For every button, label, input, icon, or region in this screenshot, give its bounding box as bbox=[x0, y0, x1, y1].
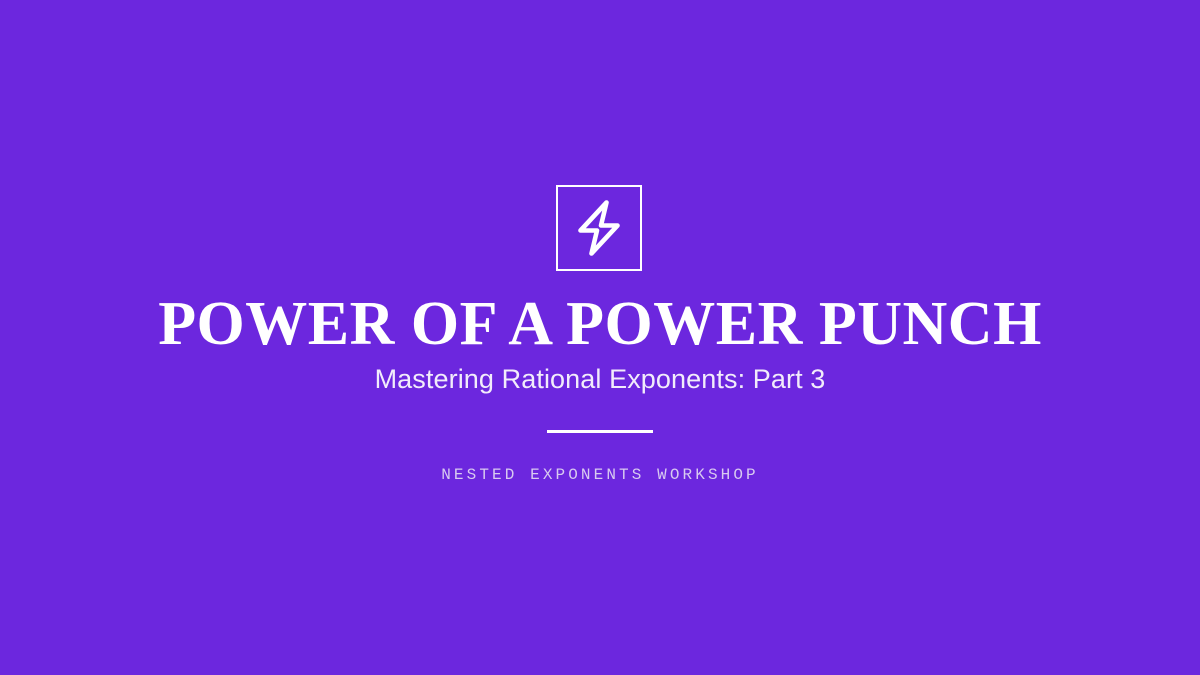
title-slide: POWER OF A POWER PUNCH Mastering Rationa… bbox=[0, 0, 1200, 675]
lightning-bolt-icon bbox=[576, 199, 622, 257]
divider bbox=[547, 430, 653, 433]
page-title: POWER OF A POWER PUNCH bbox=[0, 292, 1200, 356]
slide-caption: NESTED EXPONENTS WORKSHOP bbox=[0, 464, 1200, 486]
logo-frame bbox=[556, 185, 642, 271]
slide-subtitle: Mastering Rational Exponents: Part 3 bbox=[0, 362, 1200, 396]
